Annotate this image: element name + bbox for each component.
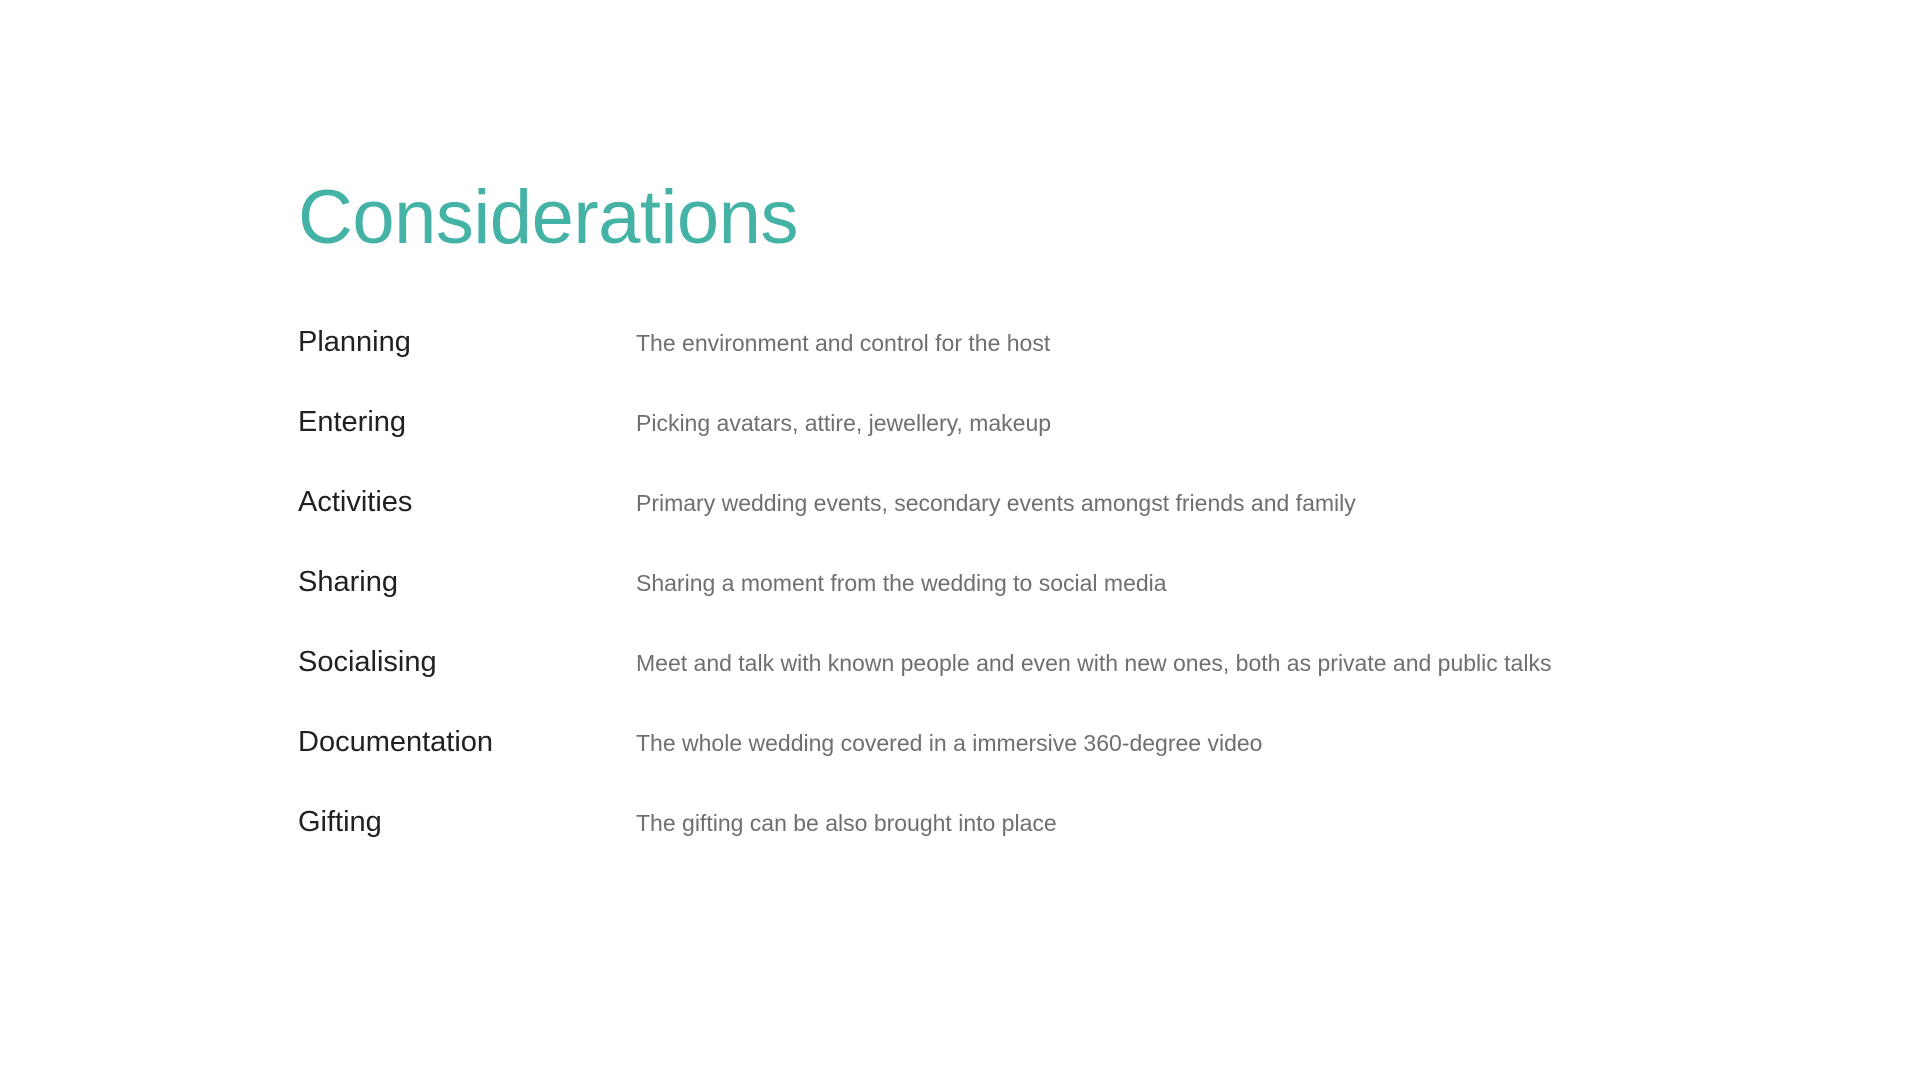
consideration-description: The whole wedding covered in a immersive… (636, 723, 1858, 763)
list-item: Sharing Sharing a moment from the weddin… (298, 562, 1858, 642)
consideration-description: Sharing a moment from the wedding to soc… (636, 563, 1858, 603)
consideration-label: Planning (298, 322, 636, 362)
list-item: Activities Primary wedding events, secon… (298, 482, 1858, 562)
consideration-label: Entering (298, 402, 636, 442)
consideration-description: Picking avatars, attire, jewellery, make… (636, 403, 1858, 443)
consideration-label: Gifting (298, 802, 636, 842)
consideration-label: Socialising (298, 642, 636, 682)
considerations-list: Planning The environment and control for… (298, 322, 1858, 882)
consideration-label: Documentation (298, 722, 636, 762)
consideration-description: Primary wedding events, secondary events… (636, 483, 1858, 523)
consideration-description: Meet and talk with known people and even… (636, 643, 1858, 683)
list-item: Documentation The whole wedding covered … (298, 722, 1858, 802)
page-title: Considerations (298, 173, 798, 263)
list-item: Gifting The gifting can be also brought … (298, 802, 1858, 882)
list-item: Planning The environment and control for… (298, 322, 1858, 402)
list-item: Entering Picking avatars, attire, jewell… (298, 402, 1858, 482)
consideration-description: The environment and control for the host (636, 323, 1858, 363)
consideration-label: Activities (298, 482, 636, 522)
consideration-description: The gifting can be also brought into pla… (636, 803, 1858, 843)
slide-canvas: Considerations Planning The environment … (0, 0, 1920, 1080)
consideration-label: Sharing (298, 562, 636, 602)
list-item: Socialising Meet and talk with known peo… (298, 642, 1858, 722)
